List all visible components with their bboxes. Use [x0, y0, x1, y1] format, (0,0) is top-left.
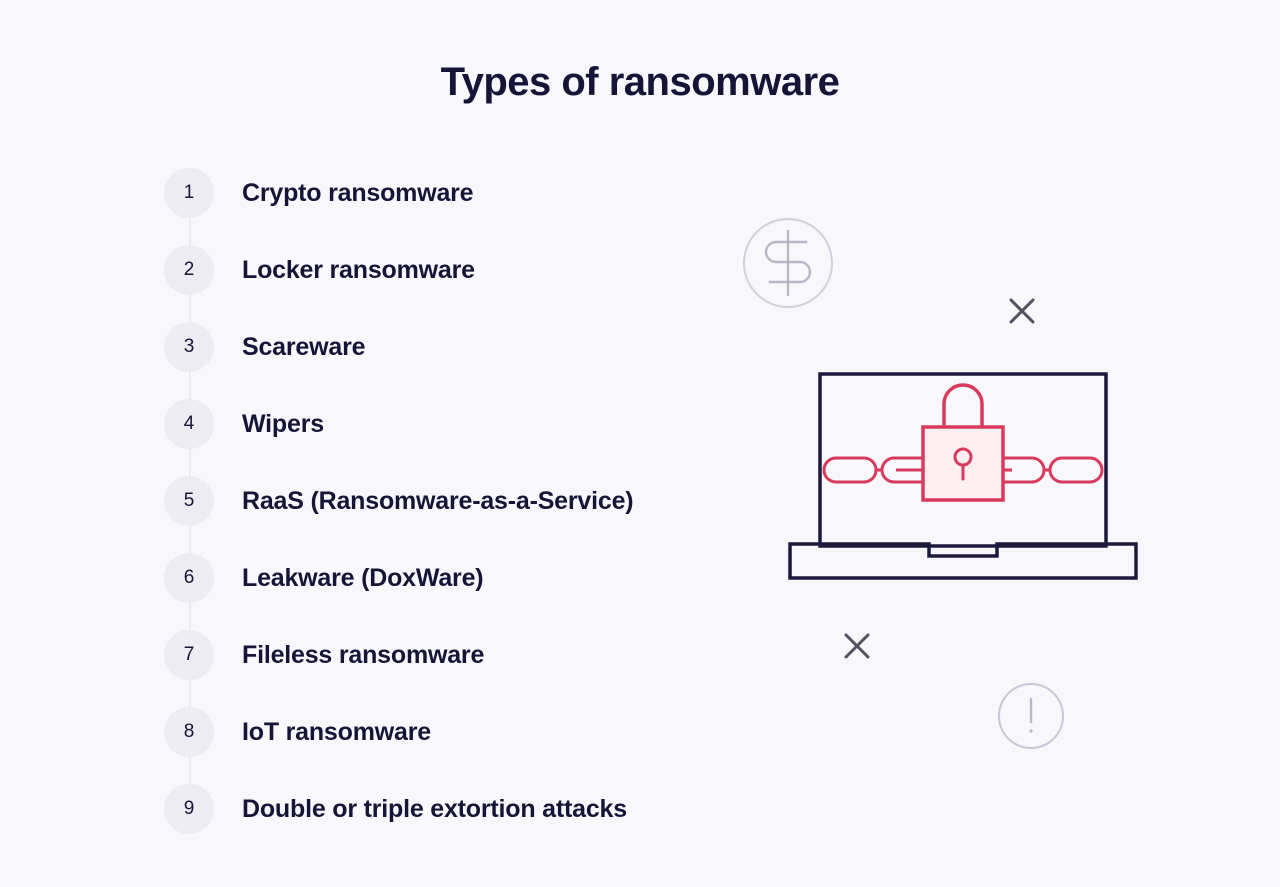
laptop-base	[790, 544, 1136, 578]
chain-left	[824, 458, 934, 482]
list-item-number-badge: 8	[164, 707, 214, 757]
list-item-label: Double or triple extortion attacks	[242, 795, 627, 824]
list-item: 9 Double or triple extortion attacks	[164, 784, 784, 834]
list-item-label: Fileless ransomware	[242, 641, 484, 670]
list-item-number-badge: 6	[164, 553, 214, 603]
list-item: 6 Leakware (DoxWare)	[164, 553, 784, 603]
list-item-number-badge: 7	[164, 630, 214, 680]
ransomware-illustration	[700, 180, 1200, 800]
list-item: 1 Crypto ransomware	[164, 168, 784, 218]
list-item: 2 Locker ransomware	[164, 245, 784, 295]
list-item-label: Wipers	[242, 410, 324, 439]
list-item-number-badge: 3	[164, 322, 214, 372]
x-mark-upper	[1011, 300, 1033, 322]
list-item-number-badge: 9	[164, 784, 214, 834]
dollar-coin-icon	[744, 219, 832, 307]
list-item: 4 Wipers	[164, 399, 784, 449]
list-item-label: IoT ransomware	[242, 718, 431, 747]
x-mark-lower	[846, 635, 868, 657]
list-item-label: Locker ransomware	[242, 256, 475, 285]
padlock-icon	[923, 385, 1003, 500]
ransomware-types-list: 1 Crypto ransomware 2 Locker ransomware …	[164, 168, 784, 834]
list-item-label: Crypto ransomware	[242, 179, 473, 208]
list-item: 5 RaaS (Ransomware-as-a-Service)	[164, 476, 784, 526]
list-item-label: RaaS (Ransomware-as-a-Service)	[242, 487, 633, 516]
list-item: 7 Fileless ransomware	[164, 630, 784, 680]
list-item-label: Leakware (DoxWare)	[242, 564, 483, 593]
alert-circle-icon	[999, 684, 1063, 748]
list-item: 8 IoT ransomware	[164, 707, 784, 757]
list-item-number-badge: 2	[164, 245, 214, 295]
list-item-number-badge: 4	[164, 399, 214, 449]
list-item-number-badge: 5	[164, 476, 214, 526]
list-item-label: Scareware	[242, 333, 365, 362]
infographic-canvas: Types of ransomware 1 Crypto ransomware …	[0, 0, 1280, 887]
list-item-number-badge: 1	[164, 168, 214, 218]
chain-right	[992, 458, 1102, 482]
page-title: Types of ransomware	[0, 58, 1280, 106]
list-item: 3 Scareware	[164, 322, 784, 372]
